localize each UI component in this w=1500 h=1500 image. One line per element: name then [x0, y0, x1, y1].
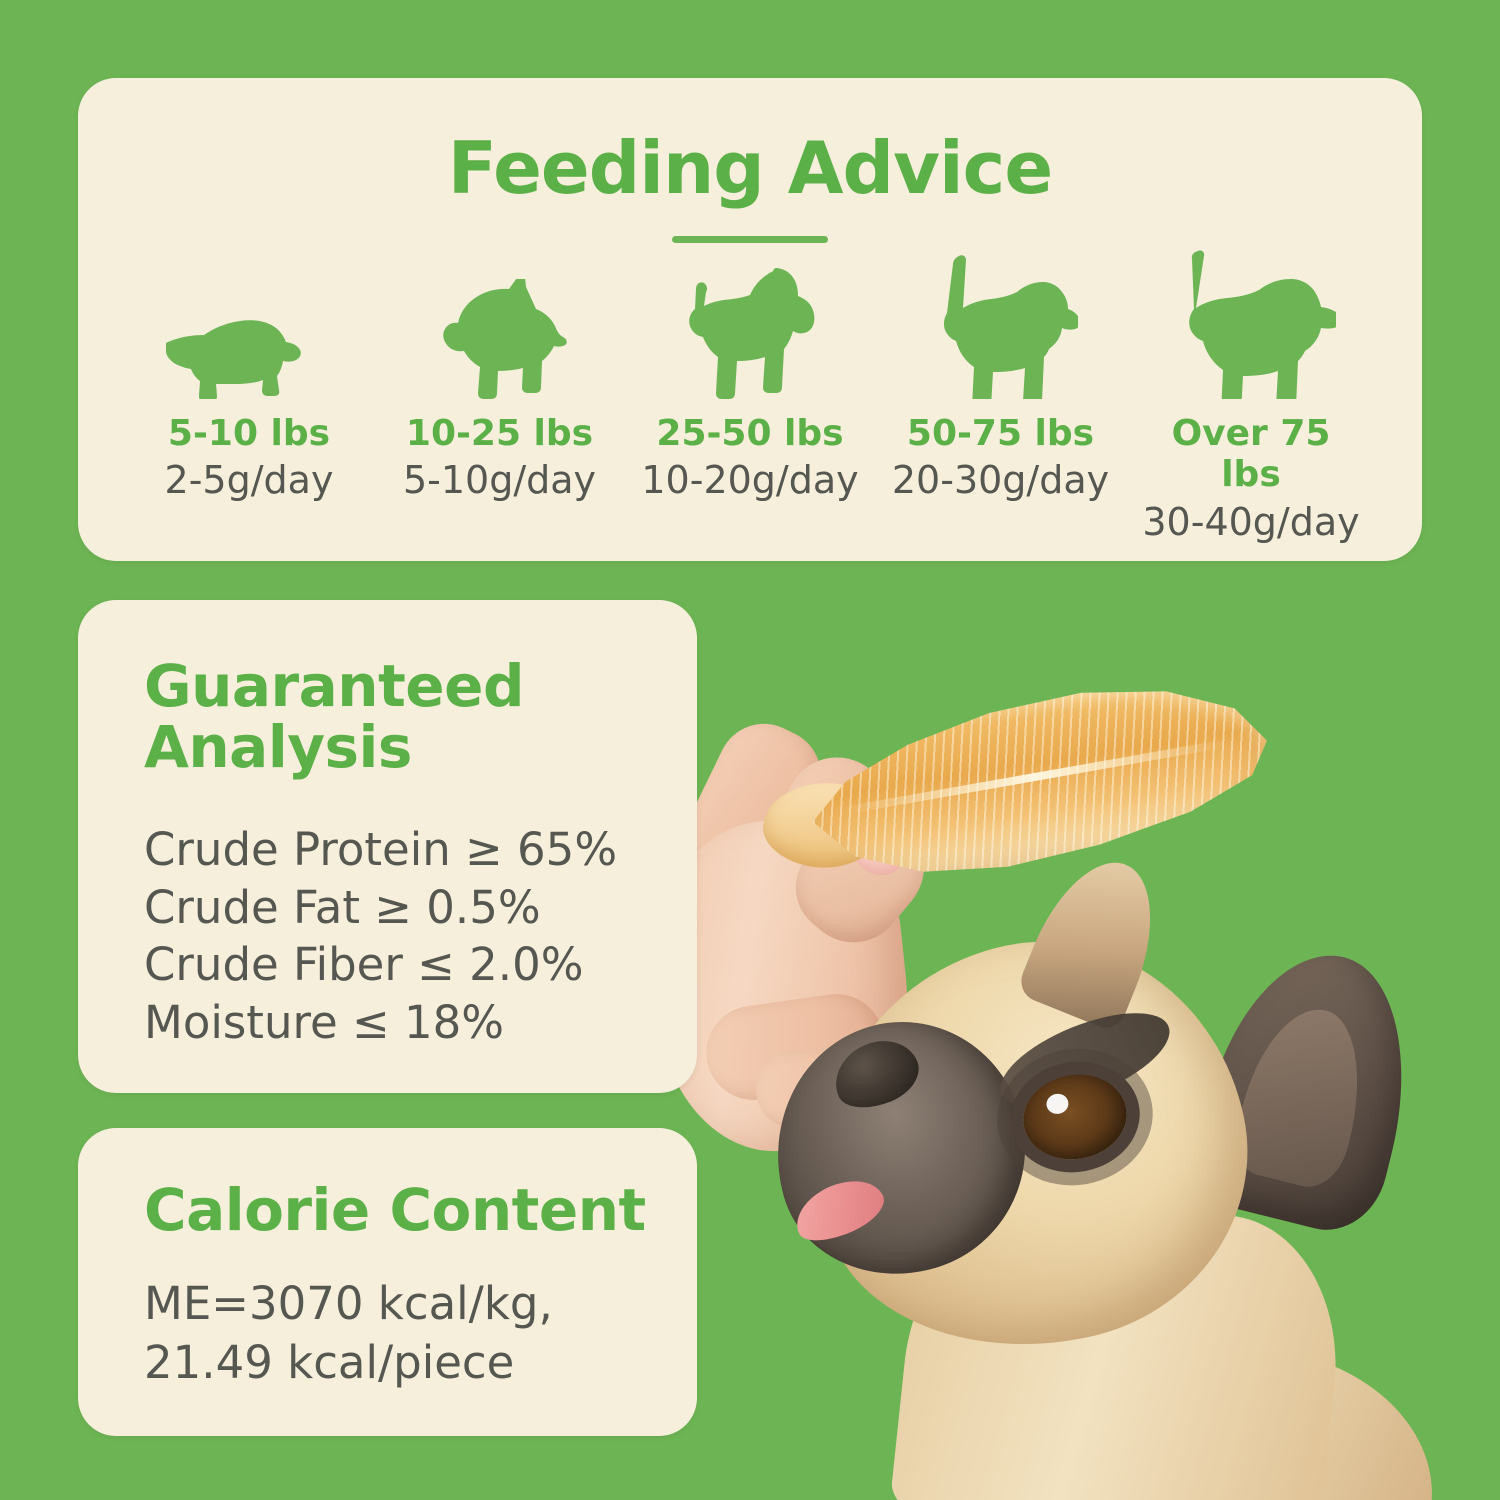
analysis-heading-line1: Guaranteed	[144, 656, 697, 717]
french-bulldog	[745, 875, 1500, 1500]
dog-silhouette-small	[385, 259, 615, 399]
amount-label: 30-40g/day	[1136, 500, 1366, 546]
analysis-list: Crude Protein ≥ 65% Crude Fat ≥ 0.5% Cru…	[144, 821, 697, 1051]
calorie-row: 21.49 kcal/piece	[144, 1334, 697, 1393]
page-title: Feeding Advice	[78, 126, 1422, 210]
title-divider	[672, 236, 828, 243]
amount-label: 20-30g/day	[886, 458, 1116, 504]
weight-label: 10-25 lbs	[385, 413, 615, 454]
analysis-row: Crude Fiber ≤ 2.0%	[144, 936, 697, 994]
amount-label: 10-20g/day	[635, 458, 865, 504]
dog-silhouette-small-icon	[430, 279, 570, 399]
feeding-entry-1: 10-25 lbs 5-10g/day	[385, 413, 615, 545]
calorie-content-card: Calorie Content ME=3070 kcal/kg, 21.49 k…	[78, 1128, 697, 1436]
calorie-list: ME=3070 kcal/kg, 21.49 kcal/piece	[144, 1275, 697, 1392]
feeding-label-row: 5-10 lbs 2-5g/day 10-25 lbs 5-10g/day 25…	[78, 413, 1422, 545]
feeding-entry-3: 50-75 lbs 20-30g/day	[886, 413, 1116, 545]
dog-silhouette-hound-icon	[923, 254, 1078, 399]
dog-silhouette-hound	[886, 259, 1116, 399]
calorie-row: ME=3070 kcal/kg,	[144, 1275, 697, 1334]
dog-silhouette-large-icon	[1166, 249, 1336, 399]
feeding-entry-2: 25-50 lbs 10-20g/day	[635, 413, 865, 545]
weight-label: 5-10 lbs	[134, 413, 364, 454]
dog-silhouette-terrier-icon	[675, 264, 825, 399]
dog-silhouette-large	[1136, 259, 1366, 399]
weight-label: Over 75 lbs	[1136, 413, 1366, 496]
feeding-entry-4: Over 75 lbs 30-40g/day	[1136, 413, 1366, 545]
amount-label: 2-5g/day	[134, 458, 364, 504]
analysis-heading-line2: Analysis	[144, 717, 697, 778]
dog-silhouette-terrier	[635, 259, 865, 399]
analysis-row: Moisture ≤ 18%	[144, 994, 697, 1052]
amount-label: 5-10g/day	[385, 458, 615, 504]
weight-label: 50-75 lbs	[886, 413, 1116, 454]
weight-label: 25-50 lbs	[635, 413, 865, 454]
infographic-root: Feeding Advice	[0, 0, 1500, 1500]
dog-silhouette-puppy-icon	[164, 303, 334, 399]
dried-chicken-breast-treat	[791, 662, 1279, 898]
feeding-entry-0: 5-10 lbs 2-5g/day	[134, 413, 364, 545]
analysis-row: Crude Fat ≥ 0.5%	[144, 879, 697, 937]
guaranteed-analysis-card: Guaranteed Analysis Crude Protein ≥ 65% …	[78, 600, 697, 1093]
feeding-advice-card: Feeding Advice	[78, 78, 1422, 561]
analysis-row: Crude Protein ≥ 65%	[144, 821, 697, 879]
dog-silhouette-row	[78, 259, 1422, 399]
analysis-heading: Guaranteed Analysis	[144, 656, 697, 779]
dog-silhouette-puppy	[134, 259, 364, 399]
calorie-heading: Calorie Content	[144, 1180, 697, 1241]
